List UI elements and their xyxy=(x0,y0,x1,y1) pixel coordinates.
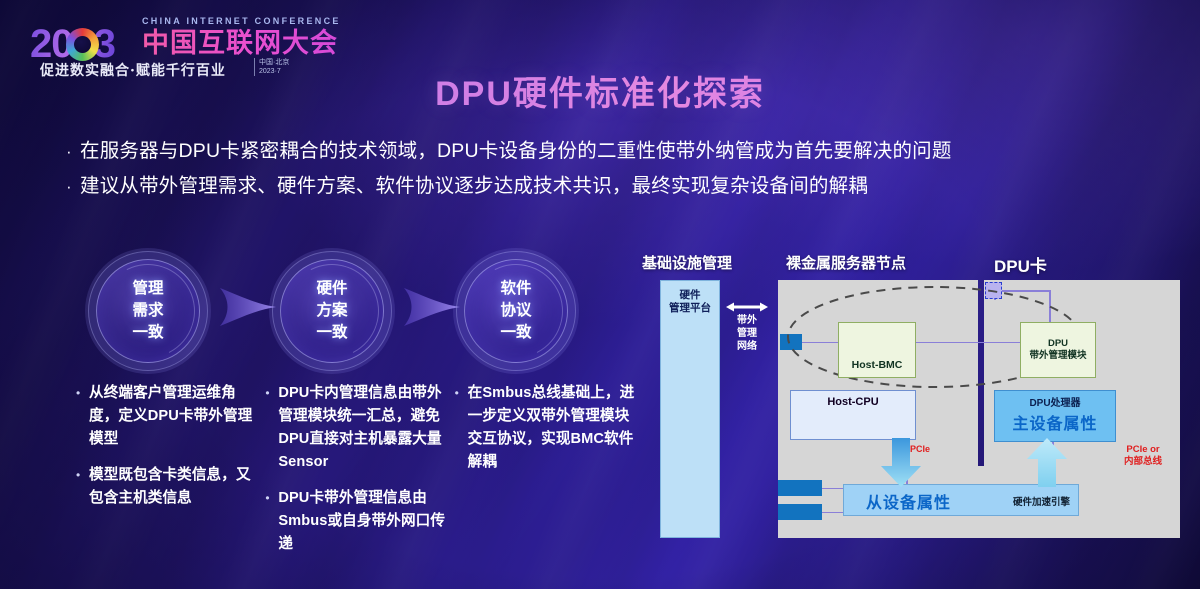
connector-to-dpuoob xyxy=(1049,290,1051,322)
top-bullet-list: · 在服务器与DPU卡紧密耦合的技术领域，DPU卡设备身份的二重性使带外纳管成为… xyxy=(66,136,1176,206)
list-item-text: 在Smbus总线基础上，进一步定义双带外管理模块交互协议，实现BMC软件解耦 xyxy=(468,382,636,474)
page-title: DPU硬件标准化探索 xyxy=(0,66,1200,115)
list-item-text: DPU卡带外管理信息由Smbus或自身带外网口传递 xyxy=(278,487,446,556)
pcie-or-internal-bus-label: PCIe or内部总线 xyxy=(1124,444,1162,468)
right-arrow-icon-2 xyxy=(402,286,464,328)
bullet-dot-icon: · xyxy=(66,171,80,202)
detail-column-3: • 在Smbus总线基础上，进一步定义双带外管理模块交互协议，实现BMC软件解耦 xyxy=(455,382,636,569)
dpu-oob-line2: 带外管理模块 xyxy=(1029,350,1086,362)
diagram-header-baremetal: 裸金属服务器节点 xyxy=(786,252,906,273)
nic-block-1 xyxy=(778,480,822,496)
dpu-oob-module-box: DPU 带外管理模块 xyxy=(1020,322,1096,378)
list-item: • 从终端客户管理运维角度，定义DPU卡带外管理模型 xyxy=(76,382,257,451)
nic-block-2 xyxy=(778,504,822,520)
dpu-chip-icon xyxy=(985,282,1002,299)
flow-step-1-label: 管理 需求 一致 xyxy=(132,278,163,344)
flow-diagram: 管理 需求 一致 硬件 方案 一致 软件 协议 一致 xyxy=(96,252,616,370)
connector-bmc-dpuoob xyxy=(916,342,1020,344)
flow-step-2-label: 硬件 方案 一致 xyxy=(316,278,347,344)
hardware-management-platform-box: 硬件管理平台 xyxy=(660,280,720,538)
top-bullet-text: 建议从带外管理需求、硬件方案、软件协议逐步达成技术共识，最终实现复杂设备间的解耦 xyxy=(80,171,868,202)
bullet-dot-icon: • xyxy=(265,382,278,474)
detail-column-1: • 从终端客户管理运维角度，定义DPU卡带外管理模型 • 模型既包含卡类信息，又… xyxy=(76,382,257,569)
bullet-dot-icon: • xyxy=(265,487,278,556)
top-bullet-text: 在服务器与DPU卡紧密耦合的技术领域，DPU卡设备身份的二重性使带外纳管成为首先… xyxy=(80,136,952,167)
flow-step-2: 硬件 方案 一致 xyxy=(280,259,384,363)
list-item: • DPU卡带外管理信息由Smbus或自身带外网口传递 xyxy=(265,487,446,556)
host-cpu-box: Host-CPU xyxy=(790,390,916,440)
diagram-header-dpu-card: DPU卡 xyxy=(994,252,1047,277)
list-item-text: 模型既包含卡类信息，又包含主机类信息 xyxy=(89,464,257,510)
flow-step-3-label: 软件 协议 一致 xyxy=(500,278,531,344)
detail-columns: • 从终端客户管理运维角度，定义DPU卡带外管理模型 • 模型既包含卡类信息，又… xyxy=(76,382,636,569)
host-bmc-box: Host-BMC xyxy=(838,322,916,378)
logo-ring-icon xyxy=(66,28,99,61)
list-item-text: 从终端客户管理运维角度，定义DPU卡带外管理模型 xyxy=(89,382,257,451)
bullet-dot-icon: • xyxy=(76,382,89,451)
detail-column-2: • DPU卡内管理信息由带外管理模块统一汇总，避免DPU直接对主机暴露大量Sen… xyxy=(265,382,446,569)
top-bullet-item: · 建议从带外管理需求、硬件方案、软件协议逐步达成技术共识，最终实现复杂设备间的… xyxy=(66,171,1176,202)
list-item-text: DPU卡内管理信息由带外管理模块统一汇总，避免DPU直接对主机暴露大量Senso… xyxy=(278,382,446,474)
connector-nic1-slave xyxy=(822,488,844,490)
bullet-dot-icon: · xyxy=(66,136,80,167)
hw-platform-label: 硬件管理平台 xyxy=(661,289,719,315)
hardware-accelerator-label: 硬件加速引擎 xyxy=(1013,494,1070,508)
connector-nic2-slave xyxy=(822,512,844,514)
dpu-processor-box: DPU处理器 主设备属性 xyxy=(994,390,1116,442)
dpu-oob-line1: DPU xyxy=(1048,338,1068,350)
flow-step-3: 软件 协议 一致 xyxy=(464,259,568,363)
flow-step-1: 管理 需求 一致 xyxy=(96,259,200,363)
list-item: • DPU卡内管理信息由带外管理模块统一汇总，避免DPU直接对主机暴露大量Sen… xyxy=(265,382,446,474)
diagram-header-infra: 基础设施管理 xyxy=(642,252,732,273)
list-item: • 模型既包含卡类信息，又包含主机类信息 xyxy=(76,464,257,510)
top-bullet-item: · 在服务器与DPU卡紧密耦合的技术领域，DPU卡设备身份的二重性使带外纳管成为… xyxy=(66,136,1176,167)
connector-chip-right xyxy=(994,290,1050,292)
nic-port-icon xyxy=(780,334,802,350)
up-fat-arrow-icon xyxy=(1026,438,1068,493)
logo-chinese-text: 中国互联网大会 xyxy=(142,28,338,58)
oob-network-arrow-icon xyxy=(724,300,770,312)
logo-english-text: CHINA INTERNET CONFERENCE xyxy=(142,16,341,26)
right-arrow-icon-1 xyxy=(218,286,280,328)
architecture-diagram: 基础设施管理 裸金属服务器节点 DPU卡 硬件管理平台 带外管理网络 Host-… xyxy=(638,252,1194,552)
list-item: • 在Smbus总线基础上，进一步定义双带外管理模块交互协议，实现BMC软件解耦 xyxy=(455,382,636,474)
bullet-dot-icon: • xyxy=(455,382,468,474)
bullet-dot-icon: • xyxy=(76,464,89,510)
pcie-label: PCIe xyxy=(910,444,930,454)
dpu-processor-title: DPU处理器 xyxy=(1029,394,1080,409)
master-attribute-label: 主设备属性 xyxy=(1012,410,1097,434)
oob-network-label: 带外管理网络 xyxy=(724,314,770,353)
